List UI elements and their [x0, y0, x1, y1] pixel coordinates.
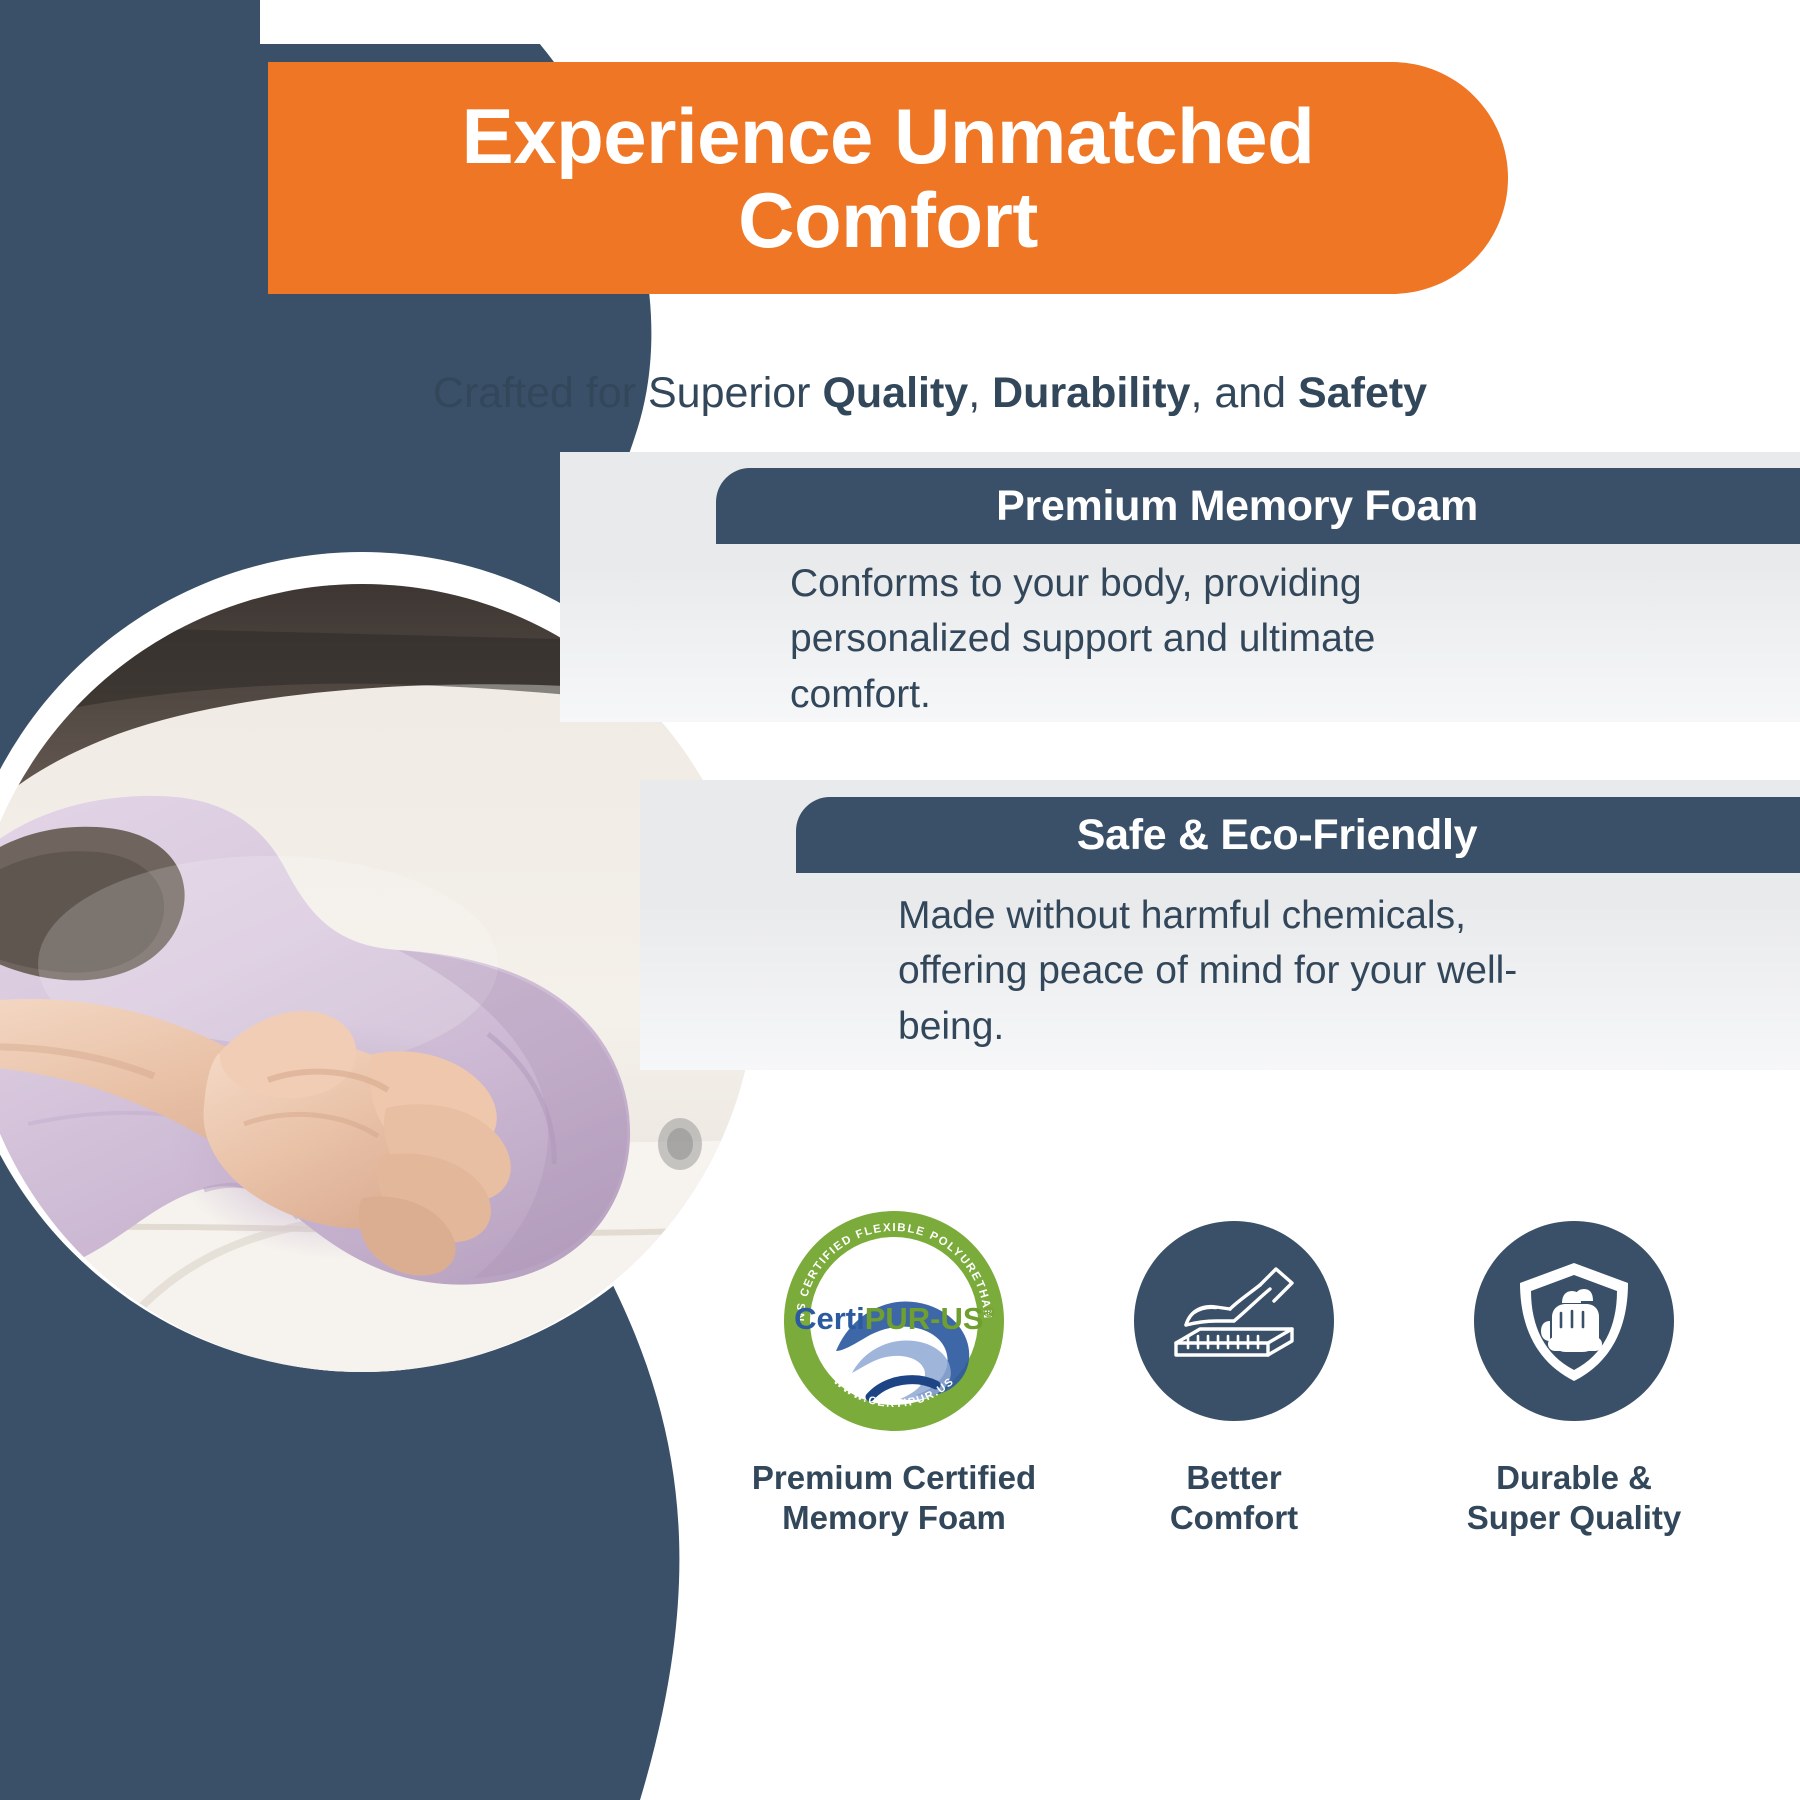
- hand-mattress-svg: [1164, 1251, 1304, 1391]
- shield-with-fist-icon: [1474, 1221, 1674, 1421]
- certipur-wordmark-green: PUR-US: [865, 1301, 984, 1336]
- trust-badge-certipur: CONTAINS CERTIFIED FLEXIBLE POLYURETHANE…: [744, 1196, 1044, 1537]
- hand-pressing-mattress-icon: [1134, 1221, 1334, 1421]
- trust-badge-durable-quality: Durable & Super Quality: [1424, 1196, 1724, 1537]
- trust-badge-better-comfort: Better Comfort: [1084, 1196, 1384, 1537]
- trust-badge-caption-durable-quality: Durable & Super Quality: [1424, 1458, 1724, 1537]
- feature-header-safe-eco-friendly: Safe & Eco-Friendly: [796, 797, 1800, 873]
- shield-fist-svg: [1504, 1251, 1644, 1391]
- trust-badges-row: CONTAINS CERTIFIED FLEXIBLE POLYURETHANE…: [744, 1196, 1784, 1756]
- page-title: Experience Unmatched Comfort: [422, 94, 1355, 262]
- feature-body-premium-memory-foam: Conforms to your body, providing persona…: [790, 556, 1470, 722]
- certipur-wordmark-blue: Certi: [794, 1301, 865, 1336]
- feature-header-premium-memory-foam: Premium Memory Foam: [716, 468, 1800, 544]
- subtitle-bold-safety: Safety: [1298, 369, 1427, 417]
- subtitle-plain-1: Crafted for Superior: [433, 369, 823, 417]
- feature-body-safe-eco-friendly: Made without harmful chemicals, offering…: [898, 888, 1518, 1054]
- certipur-us-seal-icon: CONTAINS CERTIFIED FLEXIBLE POLYURETHANE…: [744, 1196, 1044, 1446]
- subtitle-bold-durability: Durability: [992, 369, 1190, 417]
- svg-text:CertiPUR-US®: CertiPUR-US®: [794, 1301, 994, 1336]
- header-banner: Experience Unmatched Comfort: [268, 62, 1508, 294]
- page-subtitle: Crafted for Superior Quality, Durability…: [330, 368, 1530, 420]
- trust-badge-caption-better-comfort: Better Comfort: [1084, 1458, 1384, 1537]
- certipur-registered-mark: ®: [984, 1304, 995, 1320]
- infographic-canvas: Experience Unmatched Comfort Crafted for…: [0, 0, 1800, 1800]
- subtitle-plain-2: ,: [968, 369, 992, 417]
- subtitle-bold-quality: Quality: [822, 369, 968, 417]
- trust-badge-caption-certipur: Premium Certified Memory Foam: [744, 1458, 1044, 1537]
- subtitle-plain-3: , and: [1190, 369, 1298, 417]
- certipur-seal-svg: CONTAINS CERTIFIED FLEXIBLE POLYURETHANE…: [774, 1201, 1014, 1441]
- feature-title-premium-memory-foam: Premium Memory Foam: [716, 482, 1800, 531]
- feature-title-safe-eco-friendly: Safe & Eco-Friendly: [796, 811, 1800, 860]
